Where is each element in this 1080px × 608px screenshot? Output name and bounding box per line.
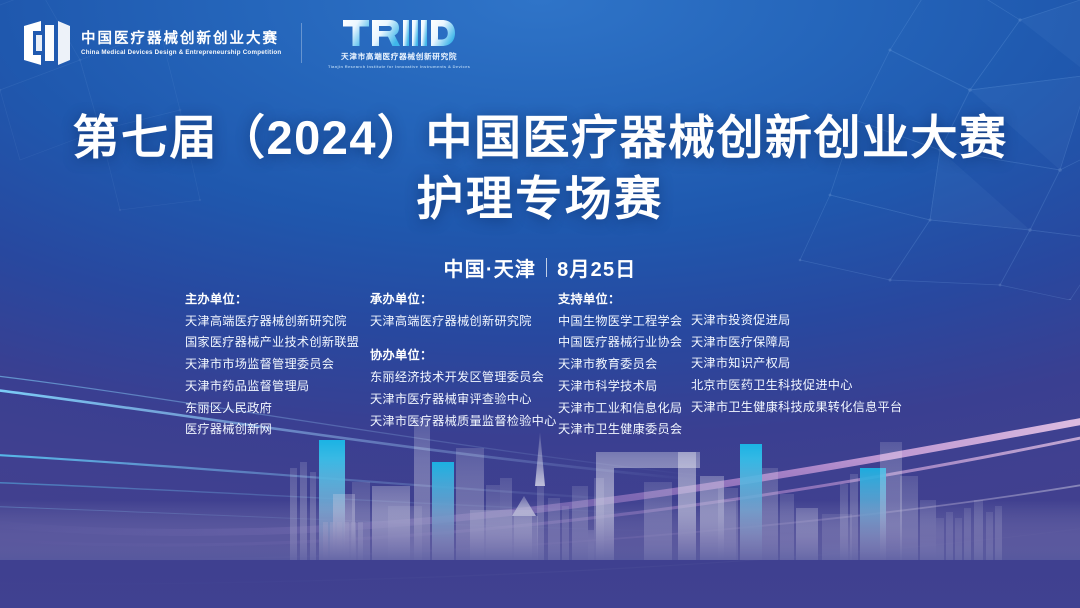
organizer-group: 承办单位： 天津高端医疗器械创新研究院 — [370, 289, 558, 332]
group-item: 天津高端医疗器械创新研究院 — [370, 311, 558, 333]
event-date: 8月25日 — [557, 253, 636, 282]
group-item: 北京市医药卫生科技促进中心 — [691, 375, 902, 397]
cmdc-logo[interactable]: 中国医疗器械创新创业大赛 China Medical Devices Desig… — [22, 19, 279, 67]
group-item: 天津市医疗器械审评查验中心 — [370, 389, 558, 411]
column-spacer — [691, 289, 902, 310]
group-item: 医疗器械创新网 — [185, 419, 370, 441]
group-item: 天津市科学技术局 — [558, 376, 691, 398]
group-item: 天津高端医疗器械创新研究院 — [185, 311, 370, 333]
page-title-line2: 护理专场赛 — [0, 171, 1080, 226]
organizer-group: 支持单位： 中国生物医学工程学会 中国医疗器械行业协会 天津市教育委员会 天津市… — [558, 289, 691, 441]
bottom-haze — [0, 458, 1080, 608]
logo-divider — [301, 23, 302, 63]
group-item: 国家医疗器械产业技术创新联盟 — [185, 332, 370, 354]
group-item: 天津市药品监督管理局 — [185, 376, 370, 398]
group-item: 天津市工业和信息化局 — [558, 398, 691, 420]
organizer-group: 天津市投资促进局 天津市医疗保障局 天津市知识产权局 北京市医药卫生科技促进中心… — [691, 289, 902, 419]
organizer-column-2: 承办单位： 天津高端医疗器械创新研究院 协办单位： 东丽经济技术开发区管理委员会… — [370, 289, 558, 432]
open-book-door-logo-icon — [22, 19, 72, 67]
group-title: 协办单位： — [370, 345, 558, 367]
triid-logo-cn: 天津市高端医疗器械创新研究院 — [341, 51, 457, 62]
group-title: 支持单位： — [558, 289, 691, 311]
group-item: 天津市医疗保障局 — [691, 332, 902, 354]
group-title: 承办单位： — [370, 289, 558, 311]
group-item: 天津市医疗器械质量监督检验中心 — [370, 411, 558, 433]
group-item: 中国医疗器械行业协会 — [558, 332, 691, 354]
group-item: 天津市教育委员会 — [558, 354, 691, 376]
group-item: 天津市卫生健康委员会 — [558, 419, 691, 441]
group-item: 中国生物医学工程学会 — [558, 311, 691, 333]
group-item: 天津市卫生健康科技成果转化信息平台 — [691, 397, 902, 419]
poster-canvas: 中国医疗器械创新创业大赛 China Medical Devices Desig… — [0, 0, 1080, 608]
group-title: 主办单位： — [185, 289, 370, 311]
triid-wordmark-icon — [343, 18, 455, 48]
subtitle-separator — [546, 258, 547, 277]
triid-logo[interactable]: 天津市高端医疗器械创新研究院 Tianjin Research Institut… — [328, 18, 470, 69]
organizer-column-4: 天津市投资促进局 天津市医疗保障局 天津市知识产权局 北京市医药卫生科技促进中心… — [691, 289, 902, 419]
event-location: 中国·天津 — [443, 253, 536, 282]
group-item: 东丽区人民政府 — [185, 398, 370, 420]
event-subtitle: 中国·天津 8月25日 — [0, 253, 1080, 282]
group-item: 东丽经济技术开发区管理委员会 — [370, 367, 558, 389]
group-item: 天津市知识产权局 — [691, 353, 902, 375]
organizer-columns: 主办单位： 天津高端医疗器械创新研究院 国家医疗器械产业技术创新联盟 天津市市场… — [185, 289, 902, 441]
page-title-line1: 第七届（2024）中国医疗器械创新创业大赛 — [0, 110, 1080, 165]
cmdc-logo-en: China Medical Devices Design & Entrepren… — [81, 49, 283, 57]
title-block: 第七届（2024）中国医疗器械创新创业大赛 护理专场赛 中国·天津 8月25日 — [0, 110, 1080, 282]
triid-logo-en: Tianjin Research Institute for Innovativ… — [328, 64, 470, 69]
organizer-column-3: 支持单位： 中国生物医学工程学会 中国医疗器械行业协会 天津市教育委员会 天津市… — [558, 289, 691, 441]
header-logos: 中国医疗器械创新创业大赛 China Medical Devices Desig… — [22, 18, 470, 69]
organizer-column-1: 主办单位： 天津高端医疗器械创新研究院 国家医疗器械产业技术创新联盟 天津市市场… — [185, 289, 370, 441]
group-item: 天津市投资促进局 — [691, 310, 902, 332]
organizer-group: 主办单位： 天津高端医疗器械创新研究院 国家医疗器械产业技术创新联盟 天津市市场… — [185, 289, 370, 441]
cmdc-logo-cn: 中国医疗器械创新创业大赛 — [81, 30, 279, 49]
group-item: 天津市市场监督管理委员会 — [185, 354, 370, 376]
organizer-group: 协办单位： 东丽经济技术开发区管理委员会 天津市医疗器械审评查验中心 天津市医疗… — [370, 345, 558, 432]
